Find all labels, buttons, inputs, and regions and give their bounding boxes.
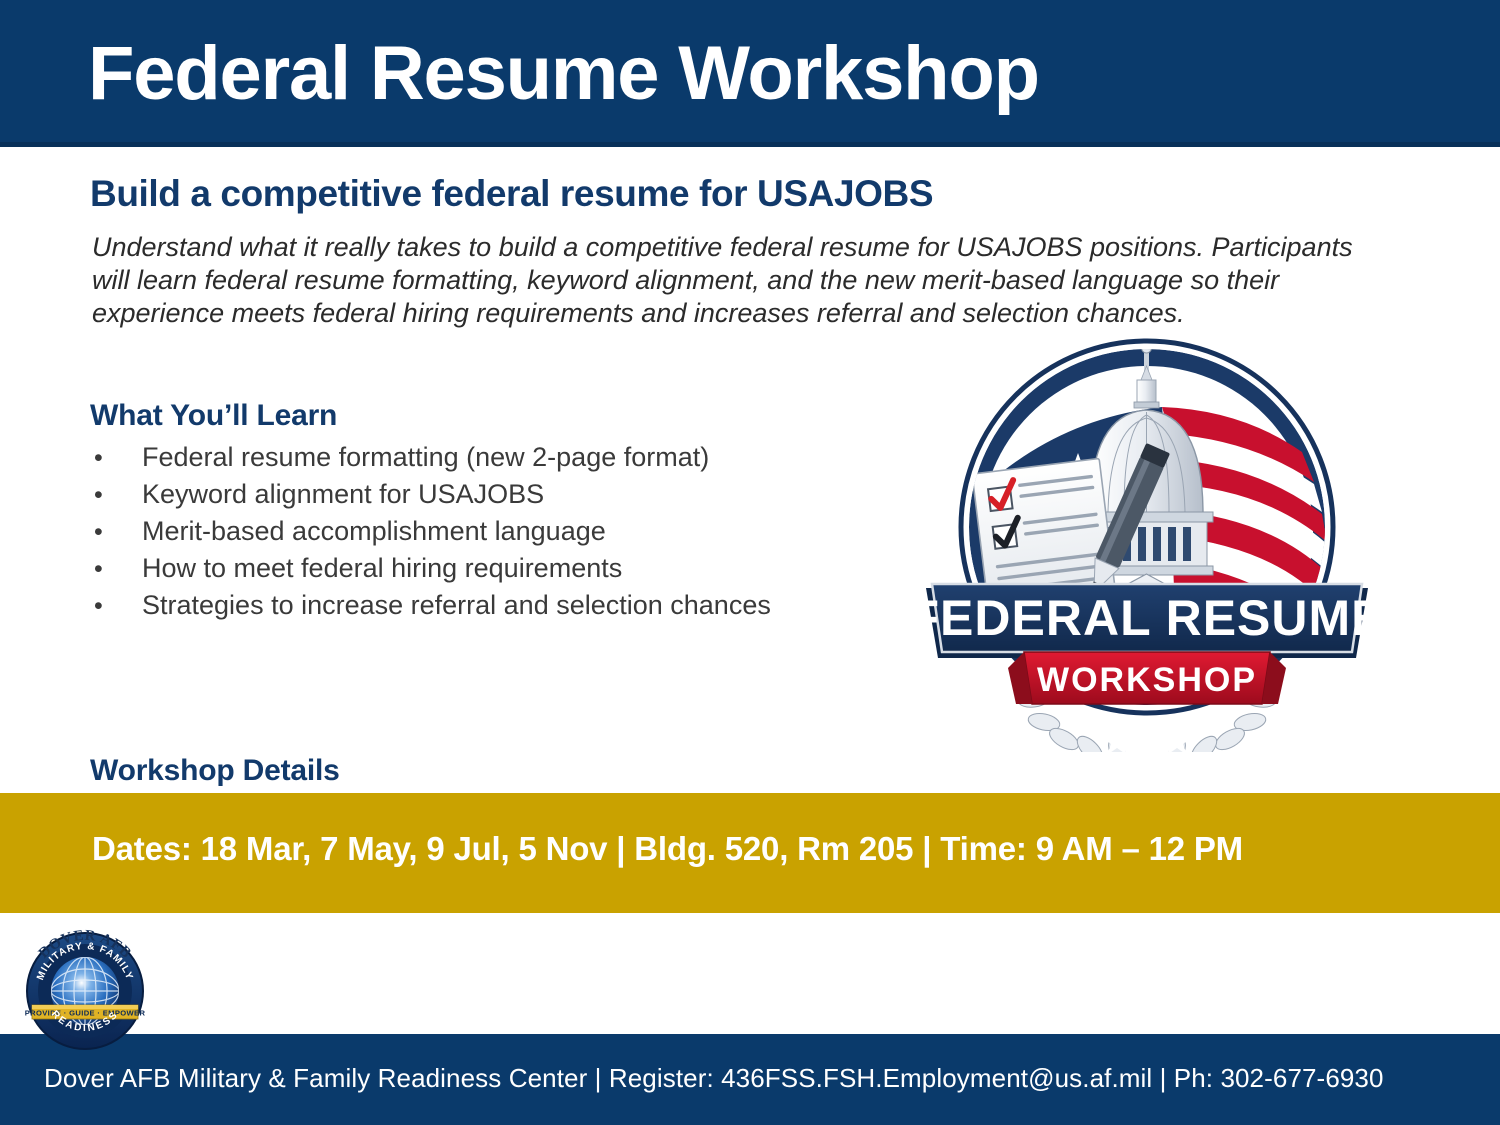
bullet-icon: • — [90, 441, 142, 476]
what-youll-learn-list: • Federal resume formatting (new 2-page … — [90, 440, 930, 625]
list-item: • Merit-based accomplishment language — [90, 514, 930, 550]
list-item-label: Strategies to increase referral and sele… — [142, 588, 771, 623]
bullet-icon: • — [90, 515, 142, 550]
list-item: • Keyword alignment for USAJOBS — [90, 477, 930, 513]
bullet-icon: • — [90, 478, 142, 513]
emblem-banner-secondary: WORKSHOP — [1037, 661, 1257, 699]
bullet-icon: • — [90, 552, 142, 587]
list-item-label: How to meet federal hiring requirements — [142, 551, 622, 586]
list-item-label: Keyword alignment for USAJOBS — [142, 477, 544, 512]
details-band-text: Dates: 18 Mar, 7 May, 9 Jul, 5 Nov | Bld… — [92, 829, 1243, 869]
seal-banner-text: PROVIDE · GUIDE · EMPOWER — [25, 1009, 146, 1018]
federal-resume-workshop-emblem: FEDERAL RESUME WORKSHOP — [912, 322, 1382, 752]
seal-svg: PROVIDE · GUIDE · EMPOWER DOVER AFB MILI… — [16, 919, 154, 1057]
list-item-label: Federal resume formatting (new 2-page fo… — [142, 440, 709, 475]
dover-afb-mfrc-seal: PROVIDE · GUIDE · EMPOWER DOVER AFB MILI… — [16, 919, 154, 1057]
page-title: Federal Resume Workshop — [88, 32, 1039, 116]
subheading: Build a competitive federal resume for U… — [90, 172, 933, 216]
footer-contact-text: Dover AFB Military & Family Readiness Ce… — [44, 1062, 1384, 1094]
list-item-label: Merit-based accomplishment language — [142, 514, 606, 549]
what-youll-learn-heading: What You’ll Learn — [90, 398, 337, 434]
list-item: • How to meet federal hiring requirement… — [90, 551, 930, 587]
emblem-banner-primary: FEDERAL RESUME — [912, 590, 1382, 646]
bullet-icon: • — [90, 589, 142, 624]
flyer-page: Federal Resume Workshop Build a competit… — [0, 0, 1500, 1125]
workshop-details-heading: Workshop Details — [90, 753, 340, 789]
intro-paragraph: Understand what it really takes to build… — [92, 231, 1372, 330]
list-item: • Strategies to increase referral and se… — [90, 588, 930, 624]
emblem-svg: FEDERAL RESUME WORKSHOP — [912, 322, 1382, 752]
list-item: • Federal resume formatting (new 2-page … — [90, 440, 930, 476]
